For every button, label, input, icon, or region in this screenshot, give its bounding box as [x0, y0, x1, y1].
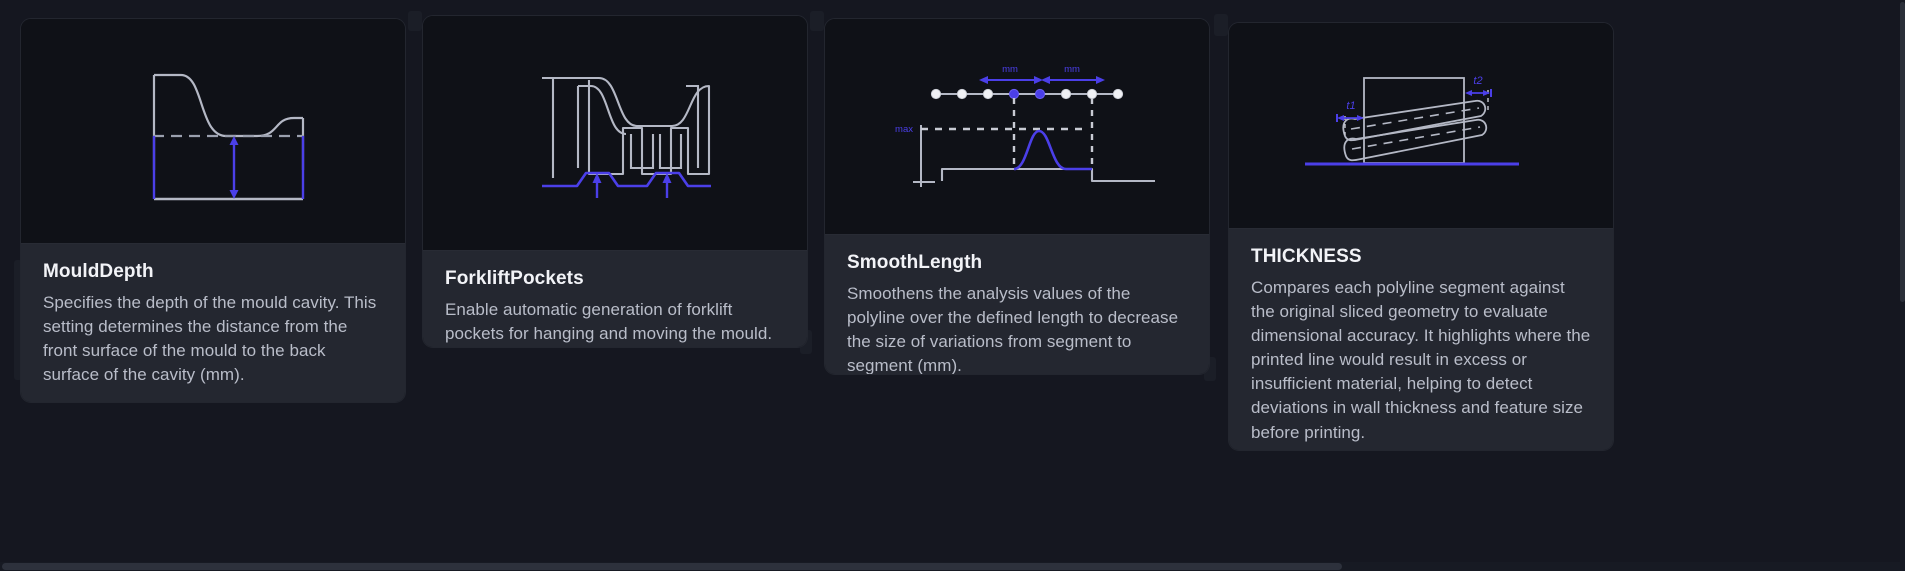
label-t2: t2 — [1473, 75, 1482, 87]
label-t1: t1 — [1346, 100, 1355, 112]
card-forklift-pockets[interactable]: ForkliftPockets Enable automatic generat… — [422, 15, 808, 348]
card-body-moulddepth: MouldDepth Specifies the depth of the mo… — [21, 243, 405, 403]
card-title: ForkliftPockets — [445, 267, 785, 291]
card-overlap-sliver — [408, 11, 422, 31]
vertical-scrollbar-track[interactable] — [1900, 0, 1905, 571]
card-title: MouldDepth — [43, 260, 383, 284]
label-mm-right: mm — [1064, 64, 1080, 75]
card-title: SmoothLength — [847, 251, 1187, 275]
card-thickness[interactable]: t1 t2 THICKNESS Compares each polyline s… — [1228, 22, 1614, 451]
card-icon-area-moulddepth — [21, 19, 405, 243]
horizontal-scrollbar-track[interactable] — [0, 562, 1905, 571]
forklift-pockets-diagram — [423, 16, 807, 250]
smooth-length-diagram: mm mm max — [825, 19, 1209, 234]
mould-depth-diagram — [21, 19, 405, 243]
card-gallery: MouldDepth Specifies the depth of the mo… — [0, 0, 1905, 571]
card-description: Specifies the depth of the mould cavity.… — [43, 291, 383, 388]
label-max: max — [895, 124, 913, 135]
card-description: Compares each polyline segment against t… — [1251, 276, 1591, 445]
card-icon-area-smoothlength: mm mm max — [825, 19, 1209, 234]
card-description: Enable automatic generation of forklift … — [445, 298, 785, 346]
label-mm-left: mm — [1002, 64, 1018, 75]
vertical-scrollbar-thumb[interactable] — [1900, 2, 1905, 302]
card-icon-area-forklift-pockets — [423, 16, 807, 250]
card-moulddepth[interactable]: MouldDepth Specifies the depth of the mo… — [20, 18, 406, 403]
horizontal-scrollbar-thumb[interactable] — [2, 563, 1342, 570]
card-overlap-sliver — [810, 11, 824, 31]
card-body-smoothlength: SmoothLength Smoothens the analysis valu… — [825, 234, 1209, 375]
card-body-thickness: THICKNESS Compares each polyline segment… — [1229, 228, 1613, 451]
card-description: Smoothens the analysis values of the pol… — [847, 282, 1187, 375]
card-smoothlength[interactable]: mm mm max SmoothL — [824, 18, 1210, 375]
card-title: THICKNESS — [1251, 245, 1591, 269]
card-overlap-sliver — [1214, 14, 1228, 36]
card-icon-area-thickness: t1 t2 — [1229, 23, 1613, 228]
thickness-diagram: t1 t2 — [1229, 23, 1613, 228]
card-body-forklift-pockets: ForkliftPockets Enable automatic generat… — [423, 250, 807, 348]
